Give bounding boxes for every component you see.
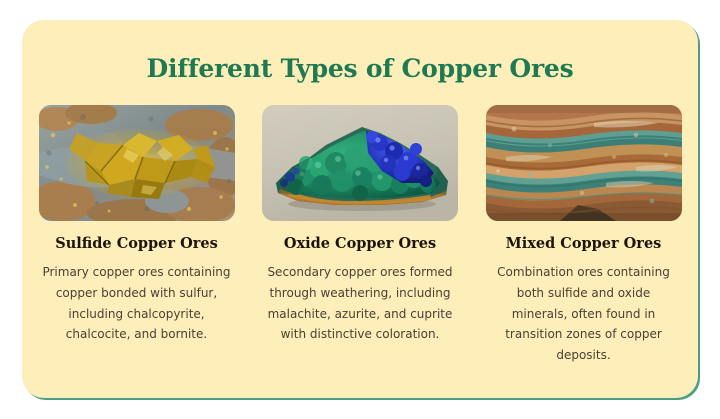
- page-title: Different Types of Copper Ores: [22, 20, 698, 81]
- infographic-card: Different Types of Copper Ores: [22, 20, 698, 398]
- ore-description-oxide: Secondary copper ores formed through wea…: [265, 262, 455, 345]
- sulfide-copper-ore-photo: [39, 105, 235, 221]
- ore-heading-mixed: Mixed Copper Ores: [506, 235, 662, 252]
- ore-heading-oxide: Oxide Copper Ores: [284, 235, 436, 252]
- oxide-copper-ore-photo: [262, 105, 458, 221]
- ore-column-oxide: Oxide Copper Ores Secondary copper ores …: [257, 105, 464, 366]
- ore-description-mixed: Combination ores containing both sulfide…: [495, 262, 673, 365]
- ore-column-sulfide: Sulfide Copper Ores Primary copper ores …: [33, 105, 240, 366]
- ore-description-sulfide: Primary copper ores containing copper bo…: [41, 262, 233, 345]
- mixed-copper-ore-photo: [486, 105, 682, 221]
- ore-heading-sulfide: Sulfide Copper Ores: [55, 235, 218, 252]
- ore-column-mixed: Mixed Copper Ores Combination ores conta…: [480, 105, 687, 366]
- ore-columns-container: Sulfide Copper Ores Primary copper ores …: [22, 105, 698, 366]
